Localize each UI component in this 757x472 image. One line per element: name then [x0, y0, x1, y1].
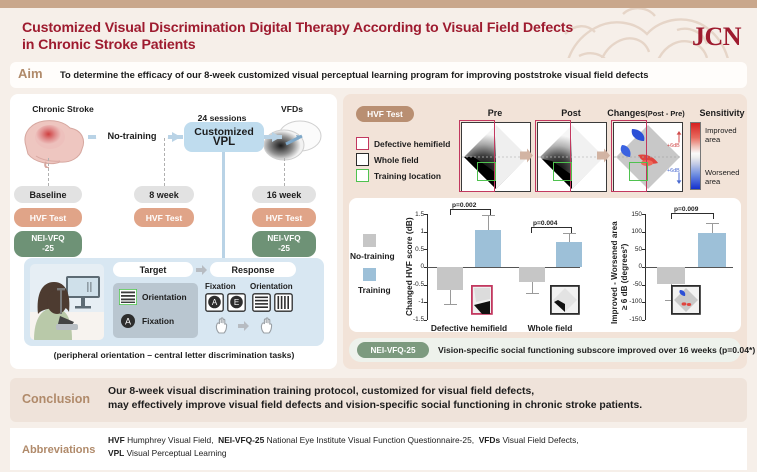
chart1-sig-bracket-defective: [450, 209, 491, 215]
chart2-ytick-4: -50: [622, 281, 642, 288]
chart1-tick-5: [424, 302, 427, 303]
graphical-abstract-page: Customized Visual Discrimination Digital…: [0, 0, 757, 472]
hand-press-2-icon: [258, 316, 276, 334]
abbr-nei: NEI-VFQ-25: [218, 435, 264, 445]
chart2-ytick-3: 0: [624, 263, 642, 270]
legend-defective-hemifield: Defective hemifield: [356, 137, 450, 150]
chart1-tick-0: [424, 214, 427, 215]
abbr-vpl: VPL: [108, 448, 124, 458]
abbreviations-text: HVF Humphrey Visual Field, NEI-VFQ-25 Na…: [108, 434, 728, 460]
chart2-bar-training: [698, 233, 726, 267]
chart2-tick-6: [642, 320, 645, 321]
legend-swatch-training: [363, 268, 376, 281]
abbr-hvf: HVF: [108, 435, 125, 445]
response-label: Response: [210, 262, 296, 277]
chart2-err-training: [712, 223, 713, 233]
chart2-ylabel: Improved - Worsened area ≥ 6 dB (degrees…: [601, 200, 619, 324]
legend-whole-field-label: Whole field: [374, 155, 419, 165]
header: Customized Visual Discrimination Digital…: [0, 8, 757, 58]
aim-label: Aim: [18, 66, 43, 81]
week16-hvf-test-label: HVF Test: [266, 213, 303, 223]
defective-hemifield-swatch-icon: [356, 137, 369, 150]
conclusion-text: Our 8-week visual discrimination trainin…: [108, 385, 642, 413]
whole-field-swatch-icon: [356, 153, 369, 166]
chart1-ytick-2: 0.5: [406, 246, 424, 253]
chart1-bar-training-defective: [475, 230, 501, 267]
orientation-grating-icon: [119, 289, 137, 305]
task-caption: (peripheral orientation – central letter…: [24, 350, 324, 360]
chart2-ytick-2: 50: [624, 246, 642, 253]
chart1-errcap-training-defective: [482, 215, 495, 216]
training-location-swatch-icon: [356, 169, 369, 182]
page-title: Customized Visual Discrimination Digital…: [22, 20, 662, 54]
chart2-bar-notraining: [657, 267, 685, 284]
flow-arrow-2-icon: [272, 129, 286, 145]
brain-icon: [20, 116, 88, 168]
chart1-errcap-notraining-defective: [444, 304, 457, 305]
page-title-line1: Customized Visual Discrimination Digital…: [22, 20, 662, 37]
baseline-nei-line2: -25: [42, 244, 54, 254]
dashed-drop-8week: [164, 138, 165, 186]
chart2-pvalue: p=0.009: [674, 206, 698, 213]
response-orientation-label: Orientation: [250, 282, 293, 291]
svg-text:E: E: [234, 298, 239, 307]
sensitivity-worsened-label: Worsened area: [705, 168, 739, 186]
chart1-bar-notraining-defective: [437, 267, 463, 290]
nei-vfq-text: Vision-specific social functioning subsc…: [438, 345, 755, 355]
response-key-fixation-1-icon: A: [205, 293, 224, 313]
abbr-nei-full: National Eye Institute Visual Function Q…: [267, 435, 472, 445]
sensitivity-tick-red-label: +6dB: [667, 143, 680, 149]
target-response-arrow-icon: [196, 265, 207, 275]
svg-text:A: A: [125, 317, 131, 327]
legend-swatch-no-training: [363, 234, 376, 247]
legend-label-no-training: No-training: [350, 251, 395, 261]
baseline-nei-vfq: NEI-VFQ -25: [14, 231, 82, 257]
legend-training-location-label: Training location: [374, 171, 441, 181]
abbr-hvf-full: Humphrey Visual Field: [127, 435, 211, 445]
sensitivity-up-arrow-icon: [676, 131, 682, 143]
hand-press-arrow-icon: [238, 321, 249, 331]
week16-hvf-test: HVF Test: [252, 208, 316, 227]
chart1-category-whole: Whole field: [515, 323, 585, 333]
week8-hvf-test-label: HVF Test: [146, 213, 183, 223]
chart1-err-training-defective: [488, 215, 489, 230]
timepoint-8week-label: 8 week: [149, 190, 179, 200]
conclusion-label: Conclusion: [22, 392, 90, 406]
chart2-tick-2: [642, 249, 645, 250]
arrow-pre-to-post-icon: [520, 148, 534, 164]
vf-map-post-hemifield-outline: [535, 120, 571, 192]
workflow-end-label: VFDs: [262, 104, 322, 114]
legend-label-training: Training: [358, 285, 391, 295]
vf-map-post-training-location: [553, 162, 572, 181]
fixation-letter-icon: A: [121, 314, 135, 328]
column-header-changes: Changes(Post - Pre): [600, 108, 692, 118]
abbreviations-line2: VPL Visual Perceptual Learning: [108, 447, 728, 460]
chart1-inset-defective-hemifield: [471, 285, 493, 315]
dashed-drop-16week: [284, 158, 285, 186]
conclusion-line1: Our 8-week visual discrimination trainin…: [108, 385, 642, 399]
journal-logo: JCN: [692, 22, 741, 52]
chart1-inset-whole-field: [550, 285, 580, 315]
abbreviations-label: Abbreviations: [22, 444, 95, 456]
chart2-tick-4: [642, 285, 645, 286]
sensitivity-improved-line1: Improved: [705, 126, 737, 135]
chart1-errcap-training-whole: [563, 233, 576, 234]
sensitivity-down-arrow-icon: [676, 172, 682, 184]
chart1-sig-bracket-whole: [531, 227, 572, 233]
baseline-hvf-test: HVF Test: [14, 208, 82, 227]
intervention-line2: VPL: [213, 137, 235, 147]
chart1-err-notraining-whole: [532, 282, 533, 293]
chart2-ytick-1: 100: [624, 228, 642, 235]
hand-press-1-icon: [213, 316, 231, 334]
top-accent-bar: [0, 0, 757, 8]
chart2-sig-bracket: [671, 213, 714, 219]
response-key-orientation-v-icon: [274, 293, 293, 313]
page-title-line2: in Chronic Stroke Patients: [22, 37, 662, 54]
chart1-tick-2: [424, 249, 427, 250]
vf-map-pre-hemifield-outline: [459, 120, 495, 192]
chart2-inset-changes-map: [671, 285, 701, 315]
hvf-test-badge: HVF Test: [356, 106, 414, 122]
legend-training-location: Training location: [356, 169, 441, 182]
response-key-orientation-h-icon: [252, 293, 271, 313]
legend-defective-hemifield-label: Defective hemifield: [374, 139, 450, 149]
chart2-tick-5: [642, 302, 645, 303]
column-header-post: Post: [536, 108, 606, 118]
sensitivity-colorbar: [690, 122, 701, 190]
target-fixation-label: Fixation: [142, 316, 174, 326]
sensitivity-improved-line2: area: [705, 135, 737, 144]
chart1-ytick-1: 1: [408, 228, 424, 235]
timepoint-baseline-label: Baseline: [29, 190, 66, 200]
chart1-tick-1: [424, 232, 427, 233]
column-header-changes-sub: (Post - Pre): [645, 109, 684, 118]
week16-nei-line1: NEI-VFQ: [267, 234, 300, 244]
vf-map-changes-hemifield-outline: [611, 120, 647, 192]
timepoint-8week: 8 week: [134, 186, 194, 203]
sensitivity-improved-label: Improved area: [705, 126, 737, 144]
chart2-tick-1: [642, 232, 645, 233]
aim-text: To determine the efficacy of our 8-week …: [60, 69, 649, 80]
patient-at-computer-illustration: [30, 264, 104, 340]
arm-no-training-label: No-training: [96, 126, 168, 146]
chart2-ytick-6: -150: [620, 316, 642, 323]
target-orientation-label: Orientation: [142, 292, 187, 302]
legend-whole-field: Whole field: [356, 153, 419, 166]
sensitivity-title: Sensitivity: [690, 108, 754, 118]
sensitivity-worsened-line2: area: [705, 177, 739, 186]
chart1-err-training-whole: [569, 233, 570, 242]
chart2-ylabel-line1: Improved - Worsened area: [610, 221, 619, 324]
sensitivity-worsened-line1: Worsened: [705, 168, 739, 177]
chart1-ytick-4: -0.5: [404, 281, 424, 288]
column-header-pre: Pre: [460, 108, 530, 118]
baseline-hvf-test-label: HVF Test: [30, 213, 67, 223]
chart1-tick-4: [424, 285, 427, 286]
dashed-drop-baseline: [48, 158, 49, 186]
abbr-vfds-full: Visual Field Defects: [502, 435, 576, 445]
abbr-vfds: VFDs: [479, 435, 500, 445]
chart1-tick-6: [424, 320, 427, 321]
abbr-vpl-full: Visual Perceptual Learning: [127, 448, 227, 458]
chart1-ytick-6: -1.5: [404, 316, 424, 323]
chart1-bar-training-whole: [556, 242, 582, 267]
vf-map-changes-training-location: [629, 162, 648, 181]
timepoint-16week: 16 week: [252, 186, 316, 203]
chart1-pvalue-whole: p=0.004: [533, 220, 557, 227]
flow-down-line: [222, 152, 225, 260]
conclusion-line2: may effectively improve visual field def…: [108, 399, 642, 413]
chart1-pvalue-defective: p=0.002: [452, 202, 476, 209]
response-key-fixation-2-icon: E: [227, 293, 246, 313]
chart1-ytick-5: -1: [406, 298, 424, 305]
timepoint-16week-label: 16 week: [267, 190, 302, 200]
chart1-category-defective: Defective hemifield: [429, 323, 509, 333]
chart1-err-notraining-defective: [450, 290, 451, 304]
week16-nei-vfq: NEI-VFQ -25: [252, 231, 316, 257]
nei-vfq-badge: NEI-VFQ-25: [357, 342, 429, 358]
svg-text:A: A: [212, 298, 218, 307]
intervention-box: Customized VPL: [184, 122, 264, 152]
chart2-errcap-training: [706, 223, 719, 224]
arrow-post-to-changes-icon: [597, 148, 611, 164]
baseline-nei-line1: NEI-VFQ: [31, 234, 64, 244]
target-label: Target: [113, 262, 193, 277]
column-header-changes-main: Changes: [607, 108, 645, 118]
chart1-errcap-notraining-whole: [526, 293, 539, 294]
chart2-ytick-0: 150: [624, 211, 642, 218]
week16-nei-line2: -25: [278, 244, 290, 254]
chart2-ytick-5: -100: [620, 298, 642, 305]
week8-hvf-test: HVF Test: [134, 208, 194, 227]
timepoint-baseline: Baseline: [14, 186, 82, 203]
vf-map-pre-training-location: [477, 162, 496, 181]
chart2-tick-0: [642, 214, 645, 215]
chart1-ytick-3: 0: [408, 263, 424, 270]
workflow-start-label: Chronic Stroke: [16, 104, 110, 114]
abbreviations-line1: HVF Humphrey Visual Field, NEI-VFQ-25 Na…: [108, 434, 728, 447]
chart1-ytick-0: 1.5: [408, 211, 424, 218]
chart1-bar-notraining-whole: [519, 267, 545, 282]
response-fixation-label: Fixation: [205, 282, 236, 291]
